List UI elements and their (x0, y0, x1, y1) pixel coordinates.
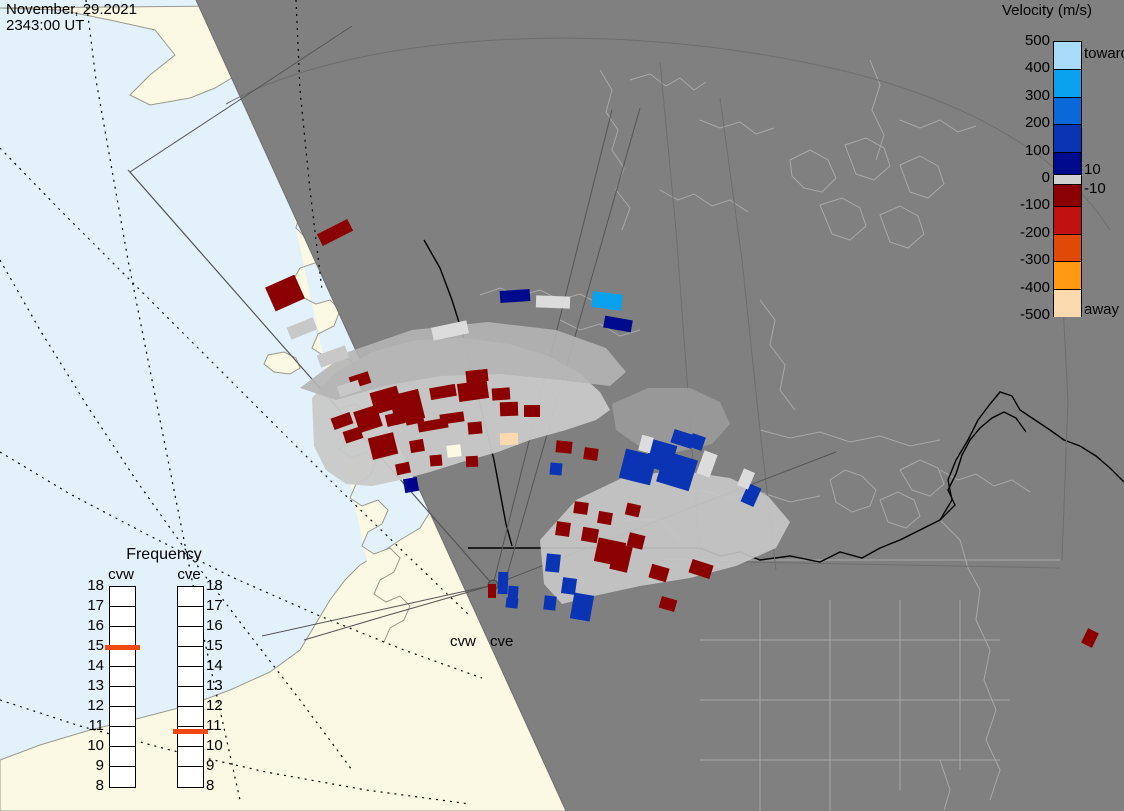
colorbar-segment (1054, 124, 1081, 152)
colorbar-inner-pos-label: 10 (1084, 161, 1101, 178)
frequency-scale-label: 15 (74, 637, 104, 654)
colorbar-tick-label: -200 (1004, 224, 1050, 241)
colorbar-toward-label: toward (1084, 45, 1124, 62)
frequency-scale-segment (110, 687, 135, 707)
frequency-scale-label: 16 (206, 617, 236, 634)
colorbar-tick-label: -300 (1004, 251, 1050, 268)
frequency-scale-label: 13 (206, 677, 236, 694)
frequency-scale-label: 9 (206, 757, 236, 774)
frequency-scale-label: 8 (206, 777, 236, 794)
frequency-scale-segment (110, 747, 135, 767)
frequency-scale-label: 16 (74, 617, 104, 634)
colorbar-segment (1054, 69, 1081, 97)
frequency-scale-label: 18 (206, 577, 236, 594)
colorbar-tick-label: 300 (1004, 87, 1050, 104)
radar-cell (581, 527, 599, 544)
frequency-scale-label: 10 (74, 737, 104, 754)
frequency-scale-segment (178, 627, 203, 647)
frequency-scale-segment (110, 587, 135, 607)
colorbar-tick-label: -100 (1004, 196, 1050, 213)
colorbar-tick-label: 0 (1004, 169, 1050, 186)
colorbar-tick-label: -500 (1004, 306, 1050, 323)
frequency-scale-label: 9 (74, 757, 104, 774)
frequency-scale-segment (110, 707, 135, 727)
colorbar-segment (1054, 234, 1081, 262)
radar-cell (555, 521, 571, 537)
colorbar-segment (1054, 261, 1081, 289)
colorbar-tick-label: -400 (1004, 279, 1050, 296)
frequency-scale-label: 12 (206, 697, 236, 714)
radar-cell (545, 553, 561, 572)
radar-cell (555, 440, 572, 454)
colorbar-segment (1054, 42, 1081, 69)
radar-map-screenshot: November, 29.2021 2343:00 UT Velocity (m… (0, 0, 1124, 811)
frequency-scale-label: 13 (74, 677, 104, 694)
colorbar-segment (1054, 206, 1081, 234)
frequency-scale-label: 12 (74, 697, 104, 714)
colorbar-away-label: away (1084, 301, 1119, 318)
frequency-scale-segment (178, 687, 203, 707)
frequency-scale-segment (178, 667, 203, 687)
datetime-label: November, 29.2021 2343:00 UT (6, 2, 137, 34)
frequency-bar-cvw (109, 586, 136, 788)
radar-cell (466, 456, 479, 468)
frequency-scale-segment (110, 767, 135, 787)
frequency-scale-label: 14 (206, 657, 236, 674)
frequency-scale-segment (178, 747, 203, 767)
radar-cell (498, 572, 509, 594)
frequency-scale-label: 18 (74, 577, 104, 594)
colorbar-tick-label: 400 (1004, 59, 1050, 76)
colorbar-segment (1054, 289, 1081, 317)
frequency-bar-cve (177, 586, 204, 788)
radar-cell (465, 369, 488, 383)
radar-cell (573, 501, 589, 515)
colorbar-ground-scatter-band (1054, 174, 1081, 185)
radar-cell (543, 595, 556, 610)
frequency-scale-segment (178, 767, 203, 787)
radar-cell (500, 289, 531, 303)
frequency-scale-segment (110, 667, 135, 687)
colorbar-inner-neg-label: -10 (1084, 180, 1106, 197)
colorbar-gradient (1053, 41, 1082, 317)
frequency-marker-cvw (105, 645, 140, 650)
colorbar-segment (1054, 97, 1081, 125)
frequency-marker-cve (173, 729, 208, 734)
frequency-scale-segment (110, 627, 135, 647)
frequency-scale-segment (110, 647, 135, 667)
frequency-scale-label: 11 (206, 717, 236, 734)
frequency-scale-segment (178, 707, 203, 727)
frequency-scale-label: 8 (74, 777, 104, 794)
radar-cell (403, 477, 419, 493)
frequency-scale-segment (110, 607, 135, 627)
frequency-scale-label: 11 (74, 717, 104, 734)
frequency-scale-label: 10 (206, 737, 236, 754)
frequency-scale-segment (178, 587, 203, 607)
radar-cell (607, 293, 623, 310)
frequency-legend: Frequency cvw cve 18171615141312111098 1… (84, 546, 244, 794)
radar-cell (506, 597, 519, 608)
colorbar-tick-label: 100 (1004, 142, 1050, 159)
radar-cell (468, 421, 483, 434)
colorbar-tick-label: 500 (1004, 32, 1050, 49)
colorbar-tick-label: 200 (1004, 114, 1050, 131)
radar-cell (409, 439, 425, 453)
colorbar-tick-labels: 5004003002001000-100-200-300-400-500 (1000, 0, 1050, 345)
radar-cell (430, 454, 443, 466)
radar-cell (500, 402, 518, 417)
frequency-scale-label: 17 (206, 597, 236, 614)
frequency-scale-segment (110, 727, 135, 747)
radar-cell (524, 405, 540, 417)
site-label-cve: cve (490, 633, 513, 650)
radar-cell (597, 511, 613, 525)
radar-cell (488, 584, 496, 598)
frequency-scale-segment (178, 647, 203, 667)
radar-cell (583, 447, 599, 461)
radar-cell (446, 444, 461, 458)
frequency-title: Frequency (84, 546, 244, 564)
frequency-scale-label: 14 (74, 657, 104, 674)
frequency-scale-label: 17 (74, 597, 104, 614)
radar-cell (500, 433, 518, 446)
site-label-cvw: cvw (450, 633, 476, 650)
radar-cell (492, 387, 511, 400)
frequency-scale-segment (178, 607, 203, 627)
frequency-scale-label: 15 (206, 637, 236, 654)
radar-cell (536, 295, 570, 308)
radar-cell (549, 462, 562, 475)
